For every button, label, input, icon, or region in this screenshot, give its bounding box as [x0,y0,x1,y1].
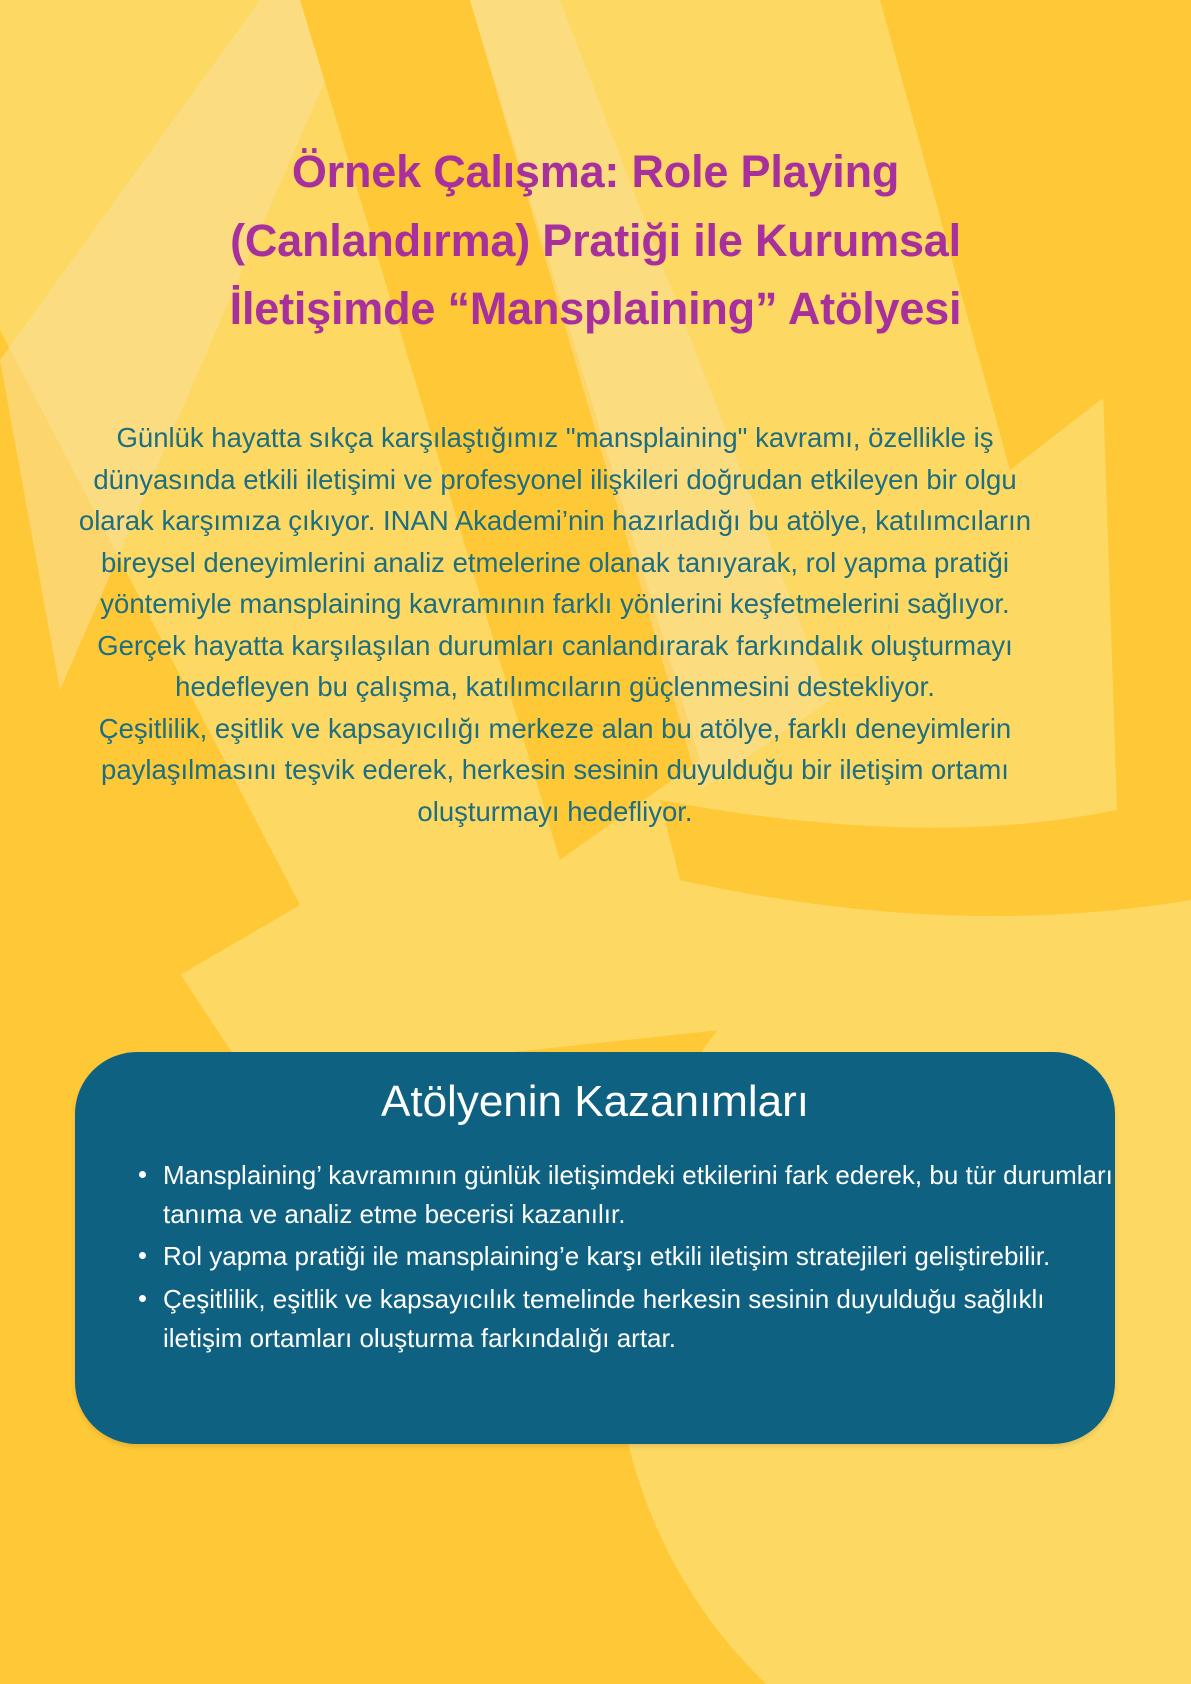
benefits-list: Mansplaining’ kavramının günlük iletişim… [97,1156,1127,1362]
intro-text-block: Günlük hayatta sıkça karşılaştığımız "ma… [55,417,1055,832]
list-item-text: Mansplaining’ kavramının günlük iletişim… [163,1160,1113,1229]
page-title: Örnek Çalışma: Role Playing (Canlandırma… [88,138,1103,343]
list-item-text: Rol yapma pratiği ile mansplaining’e kar… [163,1241,1050,1271]
bullet-dot-icon [139,1252,146,1259]
bullet-dot-icon [139,1171,146,1178]
list-item: Mansplaining’ kavramının günlük iletişim… [137,1156,1127,1233]
list-item: Rol yapma pratiği ile mansplaining’e kar… [137,1237,1127,1276]
list-item: Çeşitlilik, eşitlik ve kapsayıcılık teme… [137,1280,1127,1357]
bullet-dot-icon [139,1295,146,1302]
page-content: Örnek Çalışma: Role Playing (Canlandırma… [0,0,1191,1684]
list-item-text: Çeşitlilik, eşitlik ve kapsayıcılık teme… [163,1284,1045,1353]
intro-paragraph-1: Günlük hayatta sıkça karşılaştığımız "ma… [55,417,1055,708]
page-title-line-1: Örnek Çalışma: Role Playing [88,138,1103,206]
page-title-line-3: İletişimde “Mansplaining” Atölyesi [88,275,1103,343]
benefits-heading: Atölyenin Kazanımları [75,1078,1115,1126]
page-title-line-2: (Canlandırma) Pratiği ile Kurumsal [88,207,1103,275]
benefits-card: Atölyenin Kazanımları Mansplaining’ kavr… [75,1052,1115,1444]
intro-paragraph-2: Çeşitlilik, eşitlik ve kapsayıcılığı mer… [55,708,1055,833]
